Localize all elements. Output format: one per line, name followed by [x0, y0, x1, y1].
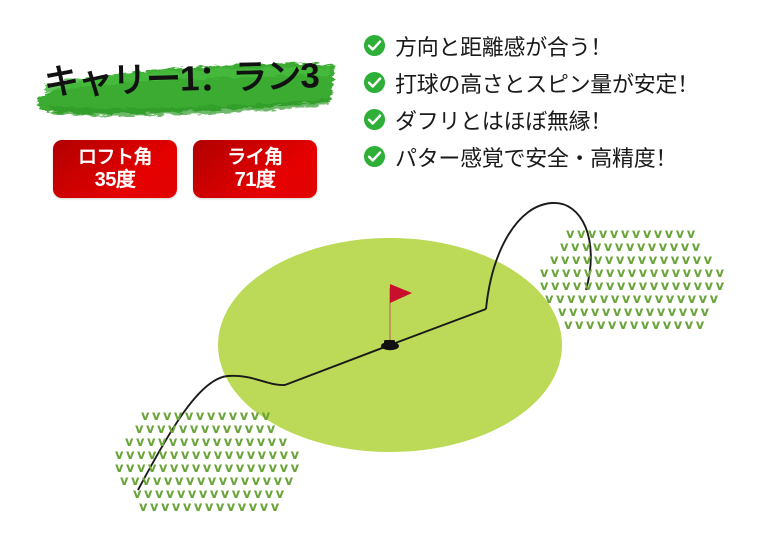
check-circle-icon [363, 71, 386, 94]
grass-row: vvvvvvvvvvvvv [540, 319, 727, 332]
checklist-item-label: 打球の高さとスピン量が安定！ [395, 67, 699, 99]
checklist-item-label: 方向と距離感が合う！ [395, 30, 612, 62]
check-circle-icon [363, 145, 386, 168]
rough-top-right: vvvvvvvvvvvvvvvvvvvvvvvvvvvvvvvvvvvvvvvv… [540, 228, 727, 332]
list-item: 方向と距離感が合う！ [363, 28, 699, 63]
list-item: ダフリとはほぼ無縁！ [363, 102, 699, 137]
grass-row: vvvvvvvvvvvvv [115, 501, 302, 514]
rough-bottom-left: vvvvvvvvvvvvvvvvvvvvvvvvvvvvvvvvvvvvvvvv… [115, 410, 302, 514]
check-circle-icon [363, 34, 386, 57]
title-block: キャリー1：ラン3 [30, 44, 350, 126]
badge-loft-label: ロフト角 [53, 147, 177, 169]
checklist-item-label: ダフリとはほぼ無縁！ [395, 104, 612, 136]
benefits-checklist: 方向と距離感が合う！ 打球の高さとスピン量が安定！ ダフリとはほぼ無縁！ パター… [363, 28, 699, 176]
checklist-item-label: パター感覚で安全・高精度！ [395, 141, 677, 173]
check-circle-icon [363, 108, 386, 131]
list-item: 打球の高さとスピン量が安定！ [363, 65, 699, 100]
badge-lie-label: ライ角 [193, 147, 317, 169]
list-item: パター感覚で安全・高精度！ [363, 139, 699, 174]
page-title: キャリー1：ラン3 [43, 47, 344, 112]
slide-canvas: キャリー1：ラン3 ロフト角 35度 ライ角 71度 方向と距離感が合う！ 打球… [0, 0, 780, 536]
ball-marker [384, 340, 395, 345]
